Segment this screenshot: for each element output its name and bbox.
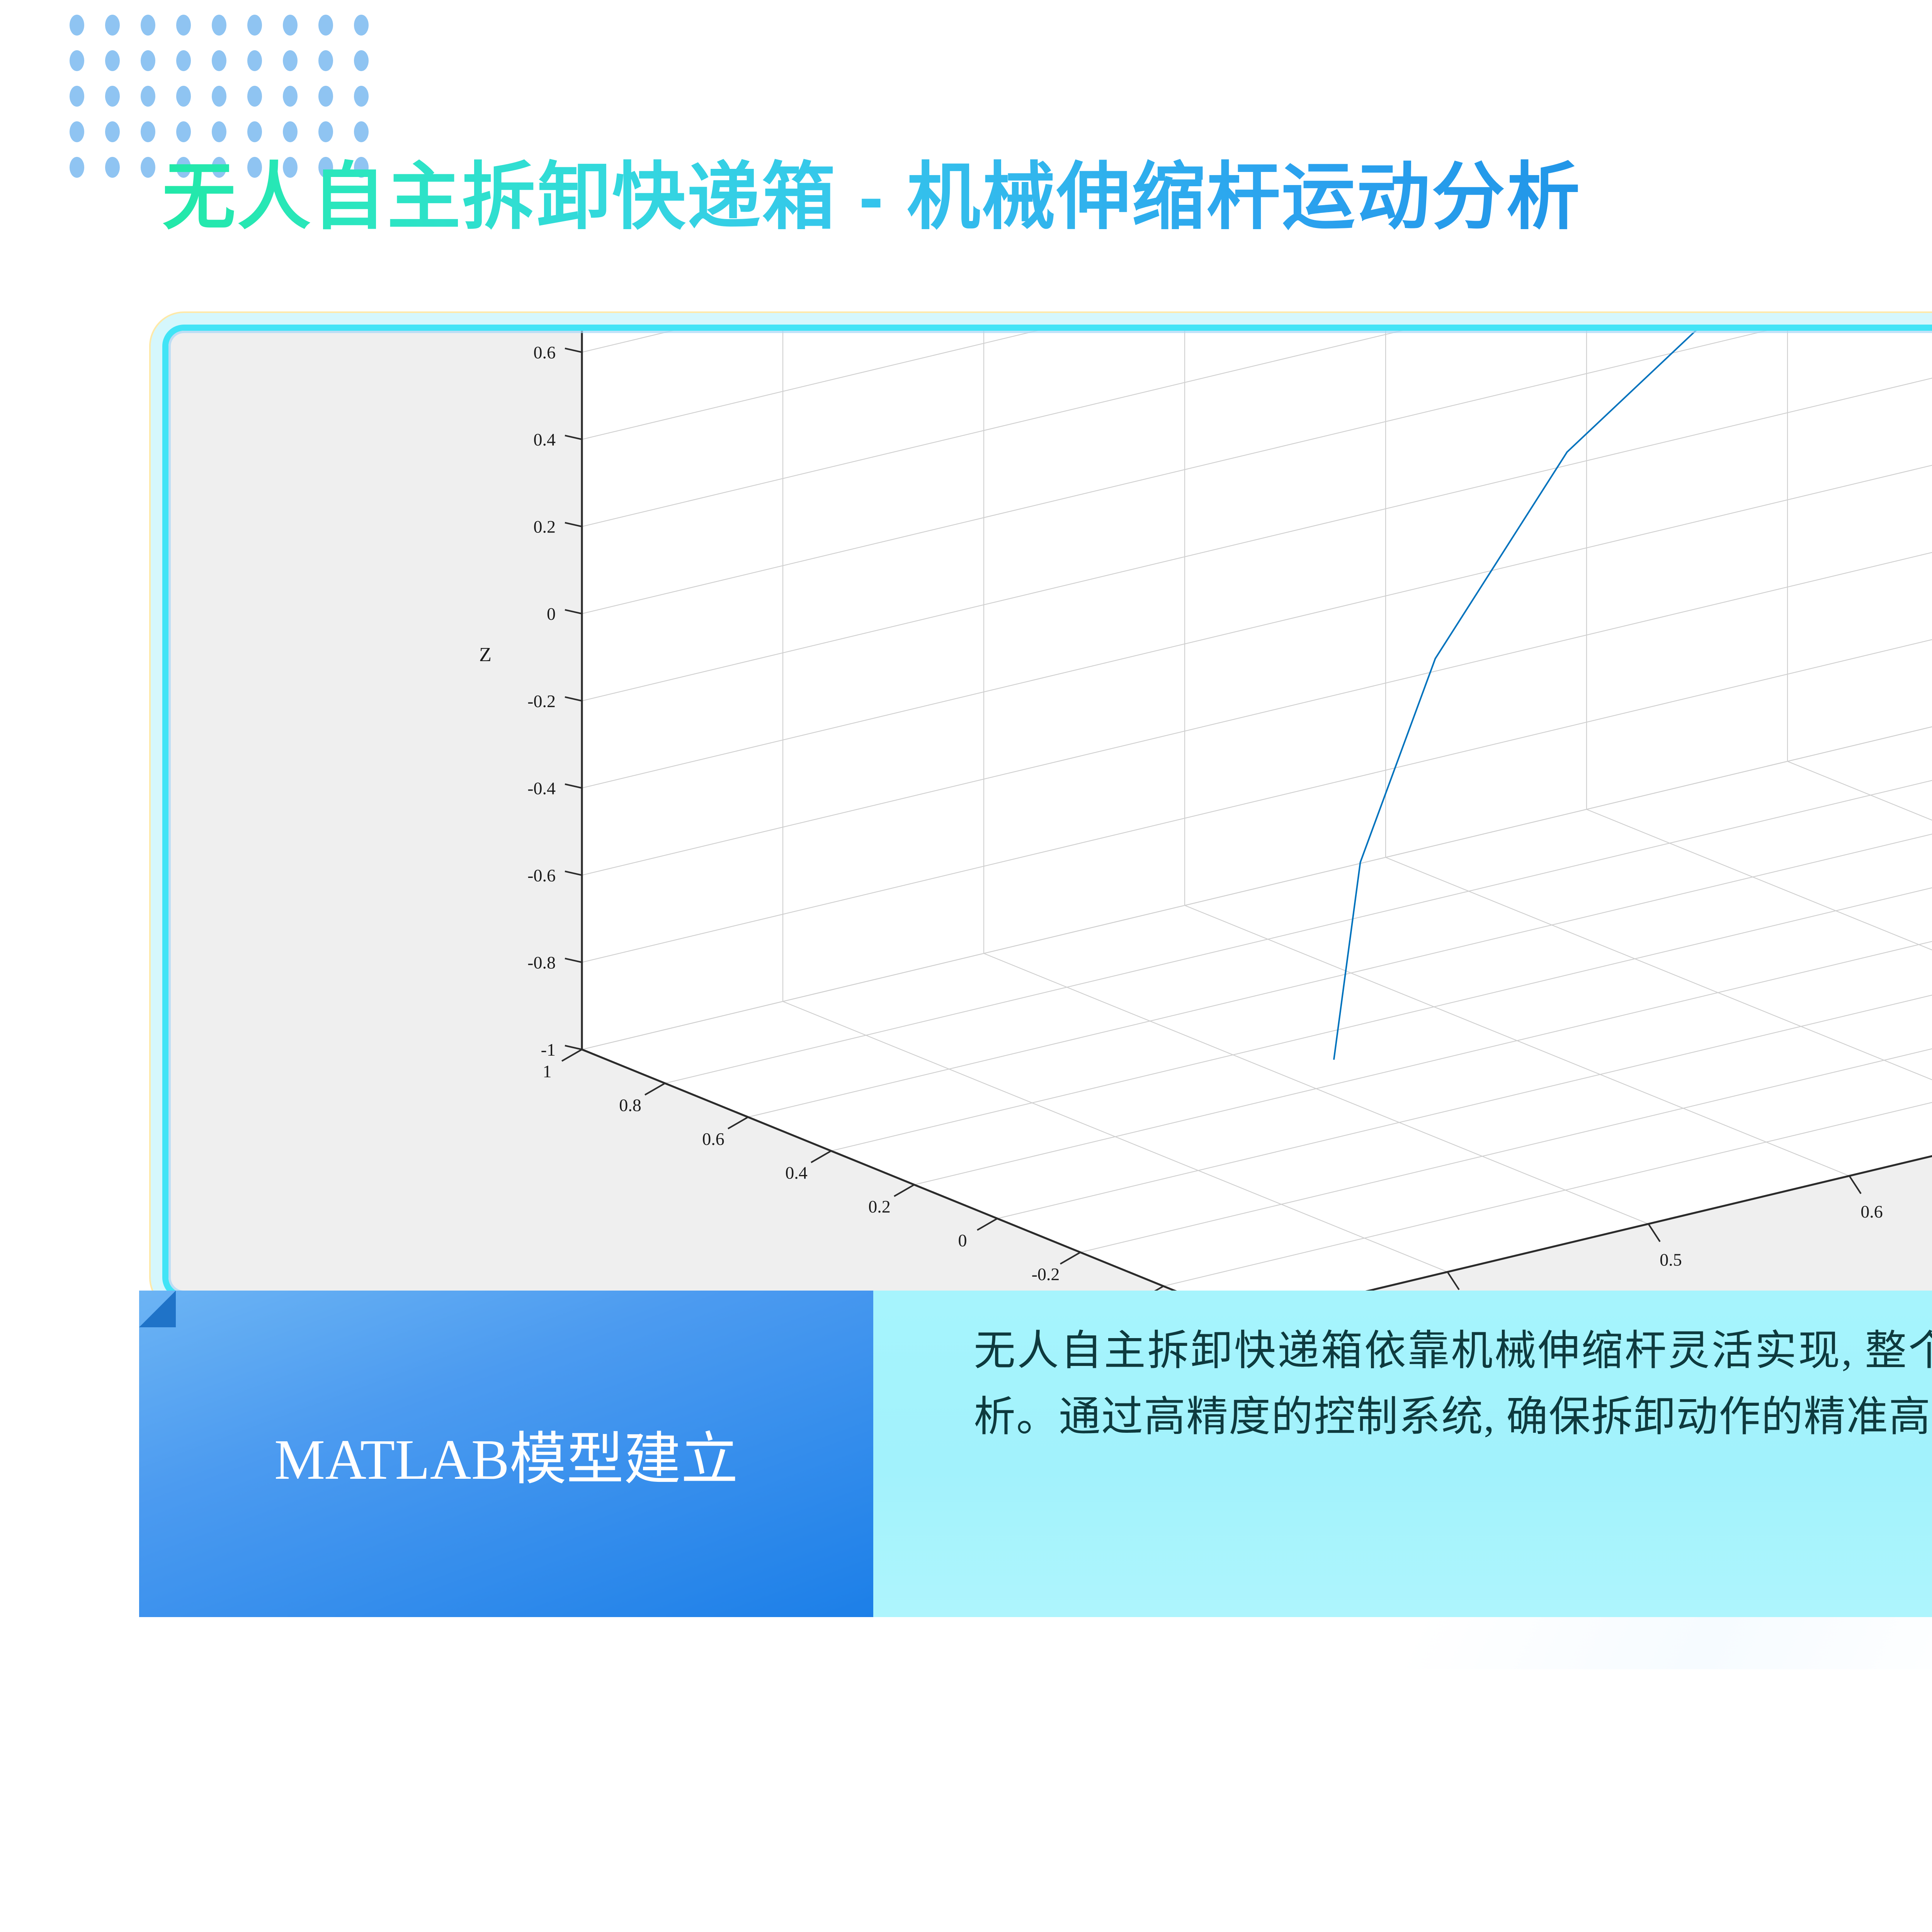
matlab-3d-plot: 0.80.60.40.20-0.2-0.4-0.6-0.8-110.80.60.… bbox=[168, 331, 1932, 1293]
footer-body-card: 无人自主拆卸快递箱依靠机械伸缩杆灵活实现, 整个过程可对其运动轨迹进行详尽的运动… bbox=[873, 1291, 1932, 1617]
decor-dot bbox=[247, 15, 262, 36]
axis-tick-label: -0.4 bbox=[527, 778, 556, 798]
decor-dot bbox=[141, 86, 155, 107]
decor-dot bbox=[70, 15, 84, 36]
axis-tick-label: -0.8 bbox=[527, 952, 556, 972]
axis-tick-label: -0.6 bbox=[527, 866, 556, 885]
decor-dot bbox=[283, 15, 298, 36]
axis-tick-label: 0.6 bbox=[1861, 1202, 1883, 1221]
axis-tick-label: 0.6 bbox=[702, 1129, 724, 1149]
decor-dot bbox=[212, 50, 226, 71]
axis-tick-label: -0.2 bbox=[527, 691, 556, 711]
decor-dot bbox=[141, 157, 155, 178]
z-axis-label: Z bbox=[479, 644, 492, 666]
fold-corner-left-icon bbox=[139, 1291, 176, 1327]
decor-dot bbox=[141, 121, 155, 142]
decor-dot bbox=[212, 15, 226, 36]
decor-dot bbox=[354, 15, 369, 36]
axis-tick-label: 0 bbox=[958, 1231, 967, 1250]
chart-canvas[interactable]: 0.80.60.40.20-0.2-0.4-0.6-0.8-110.80.60.… bbox=[168, 331, 1932, 1293]
footer-label-text: MATLAB模型建立 bbox=[274, 1412, 738, 1495]
decor-dot bbox=[354, 50, 369, 71]
decor-dot bbox=[70, 121, 84, 142]
decor-dot bbox=[247, 86, 262, 107]
chart-frame: 0.80.60.40.20-0.2-0.4-0.6-0.8-110.80.60.… bbox=[162, 325, 1932, 1299]
decor-dot bbox=[70, 86, 84, 107]
decor-dot bbox=[176, 86, 191, 107]
axis-tick-label: 0.2 bbox=[868, 1197, 891, 1216]
page-title: 无人自主拆卸快递箱 - 机械伸缩杆运动分析 bbox=[162, 137, 1582, 243]
decor-dot bbox=[141, 15, 155, 36]
axis-tick-label: 1 bbox=[543, 1061, 552, 1081]
decor-dot bbox=[283, 86, 298, 107]
decor-dot bbox=[212, 86, 226, 107]
decor-dot bbox=[247, 50, 262, 71]
axis-tick-label: 0.8 bbox=[619, 1095, 641, 1115]
axis-tick-label: 0.5 bbox=[1660, 1250, 1682, 1269]
decor-dot bbox=[141, 50, 155, 71]
decor-dot bbox=[354, 86, 369, 107]
axis-tick-label: 0.4 bbox=[785, 1163, 808, 1183]
decor-dot bbox=[105, 15, 120, 36]
decor-dot bbox=[105, 121, 120, 142]
decor-dot bbox=[318, 86, 333, 107]
decor-dot bbox=[318, 50, 333, 71]
footer-row: MATLAB模型建立 无人自主拆卸快递箱依靠机械伸缩杆灵活实现, 整个过程可对其… bbox=[139, 1275, 1932, 1623]
decor-dot bbox=[105, 50, 120, 71]
footer-body-text: 无人自主拆卸快递箱依靠机械伸缩杆灵活实现, 整个过程可对其运动轨迹进行详尽的运动… bbox=[974, 1318, 1932, 1450]
decor-dot bbox=[70, 157, 84, 178]
axis-tick-label: 0.6 bbox=[534, 343, 556, 362]
axis-tick-label: -1 bbox=[541, 1040, 556, 1060]
decor-dot bbox=[283, 50, 298, 71]
decor-dot bbox=[70, 50, 84, 71]
decor-dot bbox=[318, 15, 333, 36]
decor-dot bbox=[176, 15, 191, 36]
axis-tick-label: 0 bbox=[547, 604, 556, 624]
footer-label-card[interactable]: MATLAB模型建立 bbox=[139, 1291, 873, 1617]
decor-dot bbox=[105, 157, 120, 178]
axis-tick-label: 0.4 bbox=[534, 430, 556, 449]
decor-dot bbox=[105, 86, 120, 107]
decor-dot bbox=[176, 50, 191, 71]
axis-tick-label: 0.2 bbox=[534, 517, 556, 537]
